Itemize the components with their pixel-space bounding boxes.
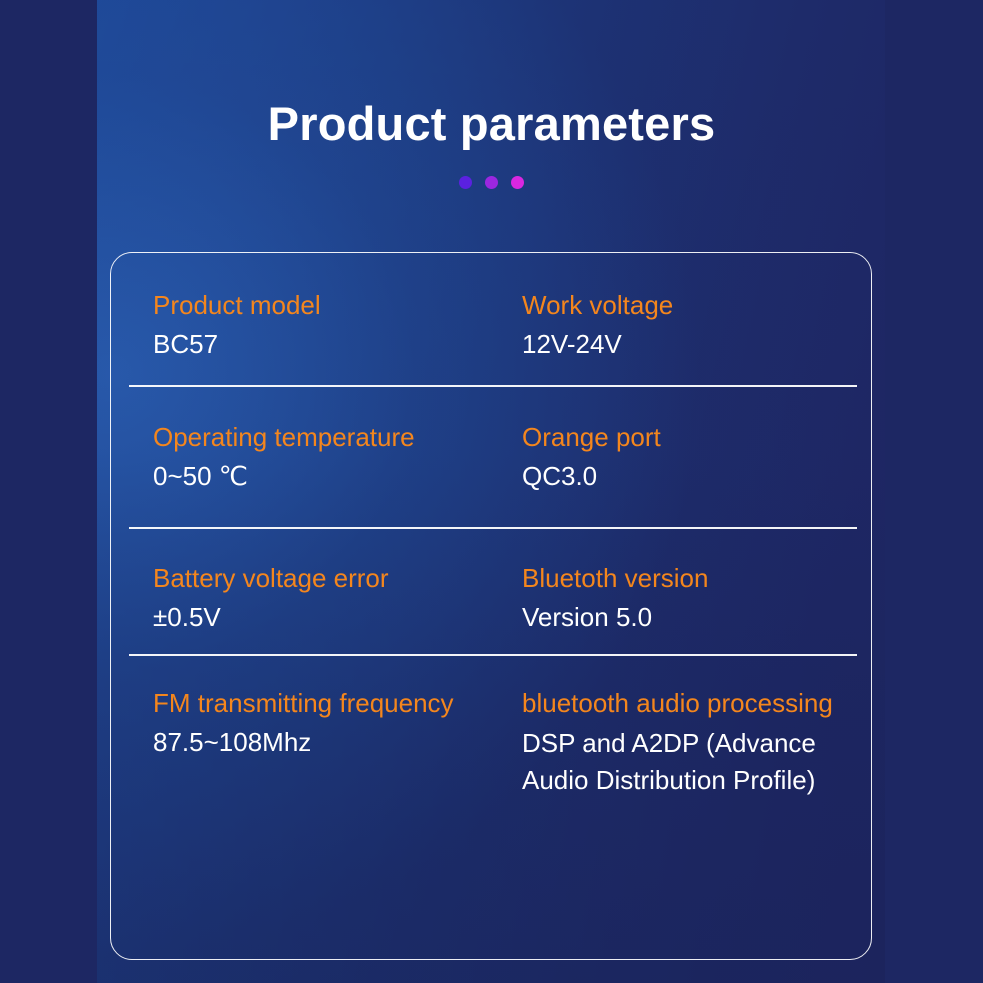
- spec-cell-bluetooth-audio-processing: bluetooth audio processing DSP and A2DP …: [520, 686, 857, 906]
- spec-label: Product model: [153, 288, 520, 323]
- spec-cell-product-model: Product model BC57: [129, 288, 520, 385]
- spec-value: QC3.0: [522, 459, 857, 494]
- spec-label: Work voltage: [522, 288, 857, 323]
- spec-value: 87.5~108Mhz: [153, 725, 520, 760]
- spec-label: Bluetoth version: [522, 561, 857, 596]
- product-parameters-panel: Product parameters Product model BC57 Wo…: [0, 0, 983, 983]
- decorative-dots: [0, 176, 983, 189]
- table-row: FM transmitting frequency 87.5~108Mhz bl…: [129, 656, 857, 906]
- spec-value: BC57: [153, 327, 520, 362]
- spec-value: 12V-24V: [522, 327, 857, 362]
- spec-value: DSP and A2DP (Advance Audio Distribution…: [522, 725, 857, 800]
- spec-value: Version 5.0: [522, 600, 857, 635]
- dot-3-icon: [511, 176, 524, 189]
- spec-cell-battery-voltage-error: Battery voltage error ±0.5V: [129, 561, 520, 654]
- page-title: Product parameters: [0, 0, 983, 151]
- header: Product parameters: [0, 0, 983, 189]
- spec-label: FM transmitting frequency: [153, 686, 520, 721]
- table-row: Operating temperature 0~50 ℃ Orange port…: [129, 387, 857, 529]
- spec-label: Battery voltage error: [153, 561, 520, 596]
- table-row: Product model BC57 Work voltage 12V-24V: [129, 253, 857, 387]
- spec-value: 0~50 ℃: [153, 459, 520, 494]
- dot-1-icon: [459, 176, 472, 189]
- spec-cell-work-voltage: Work voltage 12V-24V: [520, 288, 857, 385]
- spec-label: Orange port: [522, 420, 857, 455]
- spec-card: Product model BC57 Work voltage 12V-24V …: [110, 252, 872, 960]
- spec-label: Operating temperature: [153, 420, 520, 455]
- spec-cell-bluetooth-version: Bluetoth version Version 5.0: [520, 561, 857, 654]
- spec-table: Product model BC57 Work voltage 12V-24V …: [129, 253, 857, 906]
- dot-2-icon: [485, 176, 498, 189]
- table-row: Battery voltage error ±0.5V Bluetoth ver…: [129, 529, 857, 656]
- spec-cell-operating-temperature: Operating temperature 0~50 ℃: [129, 420, 520, 527]
- spec-cell-fm-frequency: FM transmitting frequency 87.5~108Mhz: [129, 686, 520, 906]
- spec-value: ±0.5V: [153, 600, 520, 635]
- spec-label: bluetooth audio processing: [522, 686, 857, 721]
- spec-cell-orange-port: Orange port QC3.0: [520, 420, 857, 527]
